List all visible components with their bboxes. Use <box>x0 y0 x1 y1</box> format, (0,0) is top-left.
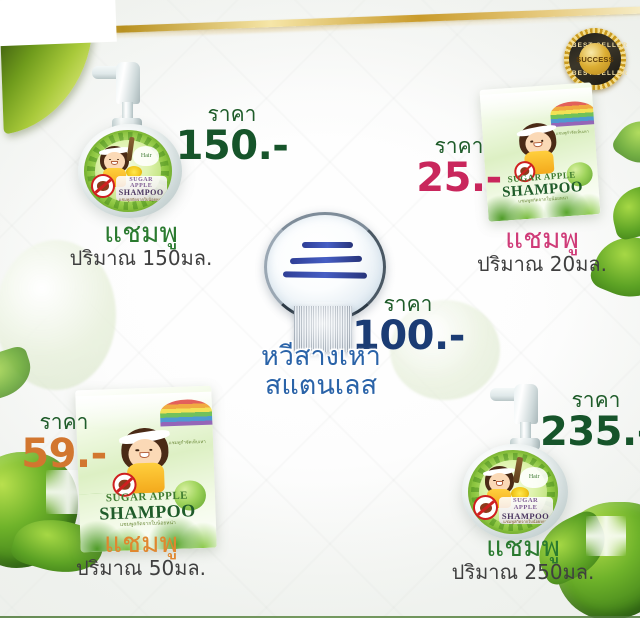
price-shampoo-50: ราคา 59.- <box>8 412 120 475</box>
label-product-name: SUGAR APPLE SHAMPOO แชมพูสกัดจากใบน้อยหน… <box>499 498 553 525</box>
label-product-name: SUGAR APPLE SHAMPOO แชมพูสกัดจากใบน้อยหน… <box>116 177 167 202</box>
pump-head-icon <box>514 384 538 424</box>
product-name-label: แชมพู <box>48 528 234 557</box>
comb-brand-line-1 <box>302 242 353 248</box>
label-brand-bubble-text: Hair <box>141 153 152 159</box>
footer-whitespace <box>0 618 640 640</box>
sachet-side-caption: แชมพูกำจัดเห็บเหา <box>553 127 591 137</box>
price-word-label: ราคา <box>352 294 464 315</box>
bottle-body: Hair SUGAR APPLE SHAMPOO แชมพูสกัดจากใบน… <box>78 124 182 218</box>
product-volume-label: ปริมาณ 20มล. <box>452 253 632 276</box>
price-word-label: ราคา <box>404 136 514 157</box>
label-thai-caption: แชมพูสกัดจากใบน้อยหน่า <box>116 198 167 202</box>
label-brand-bubble: Hair <box>520 467 548 488</box>
product-name-line1: หวีสางเหา <box>228 342 414 371</box>
label-thai-caption: แชมพูสกัดจากใบน้อยหน่า <box>499 520 553 524</box>
price-value-label: 150.- <box>170 125 294 167</box>
sachet-side-caption: แชมพูกำจัดเห็บเหา <box>164 438 210 447</box>
product-name-label: แชมพู <box>46 218 236 247</box>
price-value-label: 235.- <box>540 411 640 453</box>
girl-mouth <box>534 142 543 148</box>
prohibition-slash <box>475 498 497 518</box>
girl-mouth <box>140 452 150 459</box>
pump-head-icon <box>116 62 140 104</box>
badge-center-label: SUCCESS <box>576 55 614 64</box>
name-lice-comb: หวีสางเหา สแตนเลส <box>228 342 414 400</box>
prohibition-slash <box>92 177 113 196</box>
sachet-product-name: SUGAR APPLE SHAMPOO แชมพูสกัดจากใบน้อยหน… <box>83 489 212 529</box>
best-seller-badge: BEST SELLER BEST SELLER SUCCESS <box>564 28 626 90</box>
name-shampoo-250: แชมพู ปริมาณ 250มล. <box>428 532 618 584</box>
name-shampoo-150: แชมพู ปริมาณ 150มล. <box>46 218 236 270</box>
bottle-label-artwork: Hair SUGAR APPLE SHAMPOO แชมพูสกัดจากใบน… <box>468 450 558 534</box>
bottle-label-artwork: Hair SUGAR APPLE SHAMPOO แชมพูสกัดจากใบน… <box>84 130 172 212</box>
price-value-label: 59.- <box>8 433 120 475</box>
girl-mouth <box>111 161 118 166</box>
product-price-poster: BEST SELLER BEST SELLER SUCCESS <box>0 0 640 640</box>
badge-center: SUCCESS <box>579 43 611 75</box>
price-word-label: ราคา <box>540 390 640 411</box>
product-name-label: แชมพู <box>452 224 632 253</box>
comb-brand-line-3 <box>283 271 367 278</box>
price-shampoo-250: ราคา 235.- <box>540 390 640 453</box>
page-curl-mask <box>0 0 117 46</box>
product-name-label: แชมพู <box>428 532 618 561</box>
price-shampoo-150: ราคา 150.- <box>170 104 294 167</box>
girl-eye-right <box>149 449 152 451</box>
bottle-body: Hair SUGAR APPLE SHAMPOO แชมพูสกัดจากใบน… <box>462 444 568 540</box>
name-shampoo-50: แชมพู ปริมาณ 50มล. <box>48 528 234 580</box>
price-word-label: ราคา <box>170 104 294 125</box>
price-value-label: 25.- <box>404 157 514 199</box>
girl-eye-left <box>136 450 139 452</box>
product-name-line2: สแตนเลส <box>228 371 414 400</box>
girl-mouth <box>496 481 503 486</box>
product-volume-label: ปริมาณ 50มล. <box>48 557 234 580</box>
comb-brand-line-2 <box>290 255 362 264</box>
label-brand-bubble-text: Hair <box>529 474 540 480</box>
price-word-label: ราคา <box>8 412 120 433</box>
label-brand-bubble: Hair <box>133 146 159 166</box>
product-volume-label: ปริมาณ 150มล. <box>46 247 236 270</box>
product-volume-label: ปริมาณ 250มล. <box>428 561 618 584</box>
name-shampoo-20: แชมพู ปริมาณ 20มล. <box>452 224 632 276</box>
price-shampoo-20: ราคา 25.- <box>404 136 514 199</box>
